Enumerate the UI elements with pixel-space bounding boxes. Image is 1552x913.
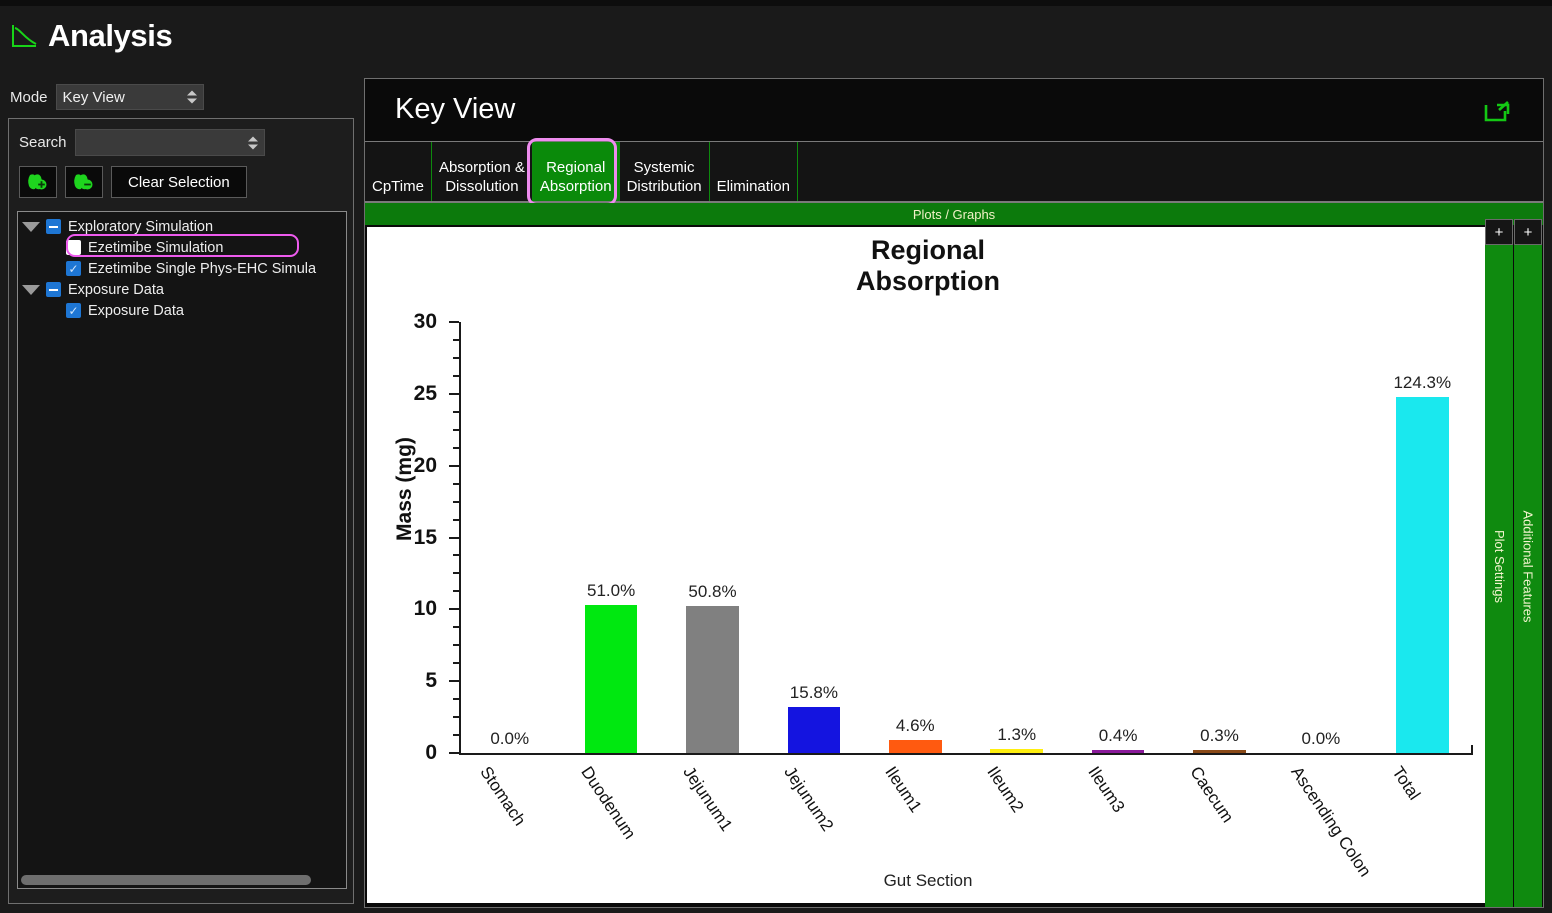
app-header: Analysis bbox=[0, 6, 360, 66]
checkbox-checked[interactable] bbox=[66, 261, 81, 276]
bar-value-label: 0.0% bbox=[460, 729, 560, 749]
mode-row: Mode Key View bbox=[10, 84, 204, 110]
y-axis-label: Mass (mg) bbox=[393, 389, 417, 589]
y-tick-minor bbox=[453, 572, 459, 574]
add-selection-icon bbox=[27, 172, 49, 192]
main-panel: Key View CpTime Absorption & Dissolution… bbox=[364, 78, 1544, 908]
chart-title-line1: Regional bbox=[367, 235, 1489, 266]
y-tick-label: 0 bbox=[393, 742, 437, 763]
y-tick-minor bbox=[453, 698, 459, 700]
y-tick-minor bbox=[453, 626, 459, 628]
y-tick-minor bbox=[453, 483, 459, 485]
plot-area-wrapper: Regional Absorption 051015202530 Mass (m… bbox=[365, 225, 1543, 907]
bar-jejunum2[interactable] bbox=[788, 707, 841, 753]
triangle-down-icon[interactable] bbox=[22, 222, 40, 232]
bar-ileum3[interactable] bbox=[1092, 750, 1145, 753]
y-tick-minor bbox=[453, 501, 459, 503]
x-axis-line bbox=[459, 753, 1473, 755]
tree-item-label: Exposure Data bbox=[68, 282, 164, 298]
y-tick-major bbox=[449, 465, 459, 467]
x-tick-label: Ileum1 bbox=[881, 763, 926, 816]
sidebar-panel: Search Clear Selection bbox=[8, 118, 354, 904]
x-tick-label: Stomach bbox=[475, 763, 529, 830]
tree-group-exposure-data[interactable]: Exposure Data bbox=[18, 279, 346, 300]
bar-value-label: 0.3% bbox=[1170, 726, 1270, 746]
y-tick-minor bbox=[453, 447, 459, 449]
search-chevron-updown-icon[interactable] bbox=[248, 136, 258, 149]
tab-absorption-dissolution[interactable]: Absorption & Dissolution bbox=[432, 142, 533, 201]
x-tick-label: Caecum bbox=[1185, 763, 1237, 827]
search-label: Search bbox=[19, 134, 67, 151]
additional-features-label: Additional Features bbox=[1521, 510, 1536, 622]
bar-value-label: 124.3% bbox=[1372, 373, 1472, 393]
tab-regional-absorption[interactable]: Regional Absorption bbox=[533, 142, 620, 201]
y-tick-minor bbox=[453, 590, 459, 592]
chart-title: Regional Absorption bbox=[367, 235, 1489, 297]
tree-item-label: Exploratory Simulation bbox=[68, 219, 213, 235]
checkbox-checked[interactable] bbox=[66, 303, 81, 318]
mode-select[interactable]: Key View bbox=[56, 84, 204, 110]
y-tick-minor bbox=[453, 429, 459, 431]
selection-toolbar: Clear Selection bbox=[9, 156, 353, 198]
y-tick-minor bbox=[453, 716, 459, 718]
export-icon[interactable] bbox=[1483, 99, 1511, 123]
additional-features-panel[interactable]: Additional Features bbox=[1514, 225, 1542, 907]
y-tick-label: 30 bbox=[393, 311, 437, 332]
y-tick-major bbox=[449, 608, 459, 610]
x-tick-label: Total bbox=[1388, 763, 1425, 804]
bar-total[interactable] bbox=[1396, 397, 1449, 753]
view-title: Key View bbox=[395, 93, 515, 126]
bar-value-label: 1.3% bbox=[967, 725, 1067, 745]
partial-checkbox[interactable] bbox=[46, 282, 61, 297]
tab-label-line2: Distribution bbox=[627, 177, 702, 196]
plot-settings-label: Plot Settings bbox=[1492, 530, 1507, 603]
tab-systemic-distribution[interactable]: Systemic Distribution bbox=[620, 142, 710, 201]
y-tick-major bbox=[449, 752, 459, 754]
y-tick-minor bbox=[453, 734, 459, 736]
bar-value-label: 15.8% bbox=[764, 683, 864, 703]
tab-elimination[interactable]: Elimination bbox=[710, 142, 798, 201]
y-tick-minor bbox=[453, 411, 459, 413]
y-tick-major bbox=[449, 321, 459, 323]
bar-value-label: 50.8% bbox=[663, 582, 763, 602]
selection-tree[interactable]: Exploratory Simulation Ezetimibe Simulat… bbox=[17, 211, 347, 889]
y-tick-minor bbox=[453, 339, 459, 341]
x-tick-label: Ileum2 bbox=[982, 763, 1027, 816]
tab-label-line1: Absorption & bbox=[439, 158, 525, 177]
tree-item-ezetimibe-single-phys-ehc[interactable]: Ezetimibe Single Phys-EHC Simula bbox=[18, 258, 346, 279]
tab-label-line1: Systemic bbox=[634, 158, 695, 177]
additional-features-expand-button[interactable]: + bbox=[1514, 219, 1542, 245]
tab-label-line2: Dissolution bbox=[445, 177, 518, 196]
y-tick-major bbox=[449, 680, 459, 682]
y-tick-minor bbox=[453, 375, 459, 377]
triangle-down-icon[interactable] bbox=[22, 285, 40, 295]
tree-items: Exploratory Simulation Ezetimibe Simulat… bbox=[18, 212, 346, 321]
bar-value-label: 4.6% bbox=[865, 716, 965, 736]
x-tick-label: Ascending Colon bbox=[1286, 763, 1374, 881]
y-tick-minor bbox=[453, 519, 459, 521]
tree-group-exploratory-simulation[interactable]: Exploratory Simulation bbox=[18, 216, 346, 237]
plot-settings-panel[interactable]: Plot Settings bbox=[1485, 225, 1513, 907]
tree-item-ezetimibe-simulation[interactable]: Ezetimibe Simulation bbox=[18, 237, 346, 258]
page-title: Analysis bbox=[48, 18, 172, 54]
analysis-curve-icon bbox=[10, 22, 38, 50]
y-tick-major bbox=[449, 537, 459, 539]
y-tick-major bbox=[449, 393, 459, 395]
remove-selection-icon bbox=[73, 172, 95, 192]
y-tick-minor bbox=[453, 644, 459, 646]
regional-absorption-chart[interactable]: Regional Absorption 051015202530 Mass (m… bbox=[367, 227, 1489, 903]
mode-select-value: Key View bbox=[63, 89, 125, 106]
x-axis-end-cap bbox=[1471, 745, 1473, 755]
chevron-updown-icon[interactable] bbox=[187, 91, 197, 104]
tab-label: CpTime bbox=[372, 177, 424, 196]
y-axis-line bbox=[459, 322, 461, 754]
tree-item-label: Exposure Data bbox=[88, 303, 184, 319]
tree-item-exposure-data[interactable]: Exposure Data bbox=[18, 300, 346, 321]
plots-graphs-label: Plots / Graphs bbox=[913, 207, 995, 222]
y-tick-minor bbox=[453, 662, 459, 664]
tree-item-label: Ezetimibe Single Phys-EHC Simula bbox=[88, 261, 316, 277]
scrollbar-thumb[interactable] bbox=[21, 875, 311, 885]
tab-bar-filler bbox=[798, 142, 1543, 201]
bar-duodenum[interactable] bbox=[585, 605, 638, 753]
bar-ileum1[interactable] bbox=[889, 740, 942, 753]
x-tick-label: Jejunum2 bbox=[779, 763, 837, 835]
clear-selection-button[interactable]: Clear Selection bbox=[111, 166, 247, 198]
chart-title-line2: Absorption bbox=[367, 266, 1489, 297]
y-tick-label: 10 bbox=[393, 598, 437, 619]
y-tick-minor bbox=[453, 554, 459, 556]
bar-ileum2[interactable] bbox=[990, 749, 1043, 753]
search-input[interactable] bbox=[75, 129, 265, 156]
y-tick-label: 5 bbox=[393, 670, 437, 691]
bar-jejunum1[interactable] bbox=[686, 606, 739, 753]
x-tick-label: Ileum3 bbox=[1084, 763, 1129, 816]
y-tick-minor bbox=[453, 357, 459, 359]
x-tick-label: Duodenum bbox=[577, 763, 640, 843]
remove-selection-button[interactable] bbox=[65, 166, 103, 198]
add-selection-button[interactable] bbox=[19, 166, 57, 198]
x-axis-label: Gut Section bbox=[367, 871, 1489, 891]
bar-value-label: 51.0% bbox=[561, 581, 661, 601]
main-header: Key View bbox=[365, 79, 1543, 141]
bar-value-label: 0.0% bbox=[1271, 729, 1371, 749]
checkbox-unchecked[interactable] bbox=[66, 240, 81, 255]
view-tabs: CpTime Absorption & Dissolution Regional… bbox=[365, 141, 1543, 203]
x-tick-label: Jejunum1 bbox=[678, 763, 736, 835]
search-row: Search bbox=[9, 119, 353, 156]
plots-graphs-header: Plots / Graphs bbox=[365, 203, 1543, 225]
tab-label: Elimination bbox=[717, 177, 790, 196]
tab-cptime[interactable]: CpTime bbox=[365, 142, 432, 201]
mode-label: Mode bbox=[10, 89, 48, 106]
plot-settings-expand-button[interactable]: + bbox=[1485, 219, 1513, 245]
tree-item-label: Ezetimibe Simulation bbox=[88, 240, 223, 256]
bar-caecum[interactable] bbox=[1193, 750, 1246, 753]
bar-value-label: 0.4% bbox=[1068, 726, 1168, 746]
tree-horizontal-scrollbar[interactable] bbox=[19, 875, 347, 887]
partial-checkbox[interactable] bbox=[46, 219, 61, 234]
tab-label-line1: Regional bbox=[546, 158, 605, 177]
tab-label-line2: Absorption bbox=[540, 177, 612, 196]
